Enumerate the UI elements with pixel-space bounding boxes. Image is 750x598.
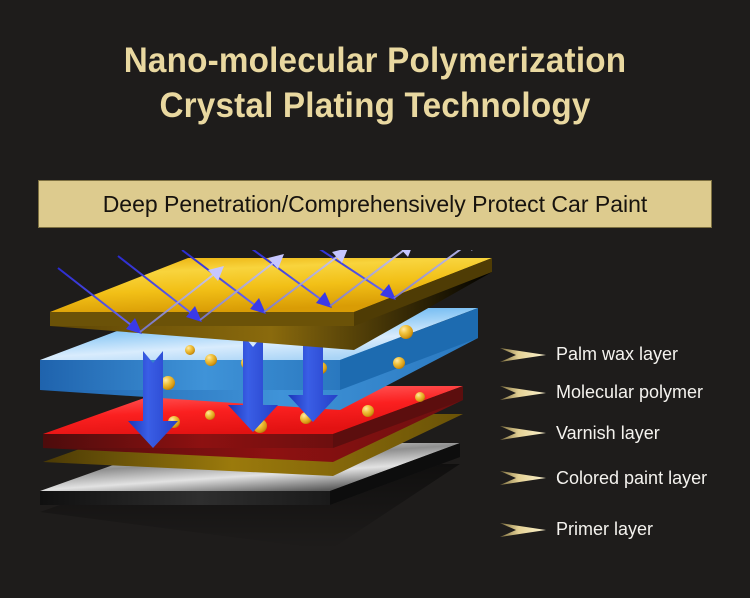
callout-label-palm-wax: Palm wax layer [556,344,678,365]
title-line-2: Crystal Plating Technology [19,83,732,128]
callout-label-varnish: Varnish layer [556,423,660,444]
page-title: Nano-molecular Polymerization Crystal Pl… [0,38,750,128]
callout-label-primer: Primer layer [556,519,653,540]
poster-root: Nano-molecular Polymerization Crystal Pl… [0,0,750,598]
callout-label-molecular-polymer: Molecular polymer [556,382,703,403]
subtitle-text: Deep Penetration/Comprehensively Protect… [103,191,648,218]
callout-label-colored-paint: Colored paint layer [556,468,707,489]
subtitle-banner: Deep Penetration/Comprehensively Protect… [38,180,712,228]
title-line-1: Nano-molecular Polymerization [19,38,732,83]
pointer-primer [345,523,546,537]
